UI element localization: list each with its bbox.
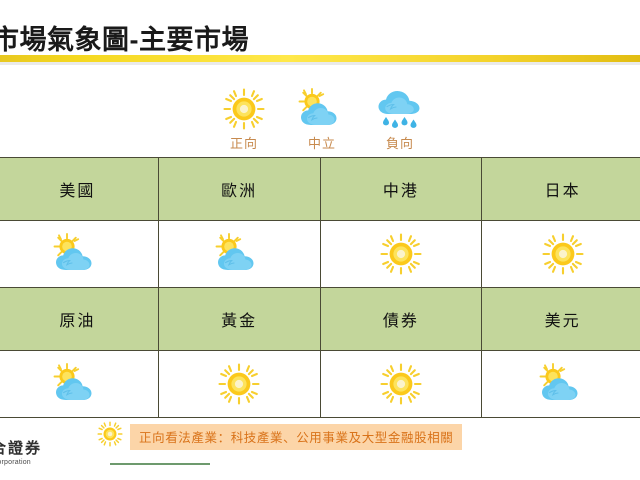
table-cell-asset: 黃金 bbox=[158, 288, 320, 351]
legend-label: 中立 bbox=[308, 133, 336, 152]
table-cell-asset: 美元 bbox=[482, 288, 640, 351]
table-cell-sentiment bbox=[320, 221, 482, 288]
legend-label: 負向 bbox=[386, 133, 414, 152]
table-cell-sentiment bbox=[482, 221, 640, 288]
sun-icon bbox=[222, 86, 266, 132]
table-cell-sentiment bbox=[158, 221, 320, 288]
title-accent-shadow bbox=[0, 62, 640, 65]
page-title: 市場氣象圖-主要市場 bbox=[0, 18, 249, 57]
sun-icon bbox=[321, 351, 482, 417]
logo-divider-line bbox=[110, 463, 210, 465]
title-accent-bar bbox=[0, 55, 640, 62]
legend-item-positive: 正向 bbox=[208, 86, 280, 152]
logo-name-cn: 綜合證券 bbox=[0, 437, 134, 458]
table-cell-region: 日本 bbox=[482, 158, 640, 221]
legend: 正向 bbox=[208, 86, 436, 154]
company-logo: 綜合證券 rities Corporation bbox=[0, 437, 134, 466]
sun-behind-cloud-icon bbox=[0, 351, 158, 417]
sun-icon bbox=[159, 351, 320, 417]
table-cell-sentiment bbox=[0, 221, 158, 288]
table-row bbox=[0, 351, 640, 418]
table-cell-sentiment bbox=[0, 351, 158, 418]
table-row: 原油 黃金 債券 美元 bbox=[0, 288, 640, 351]
sun-icon bbox=[482, 221, 640, 287]
sun-behind-cloud-icon bbox=[482, 351, 640, 417]
sun-icon bbox=[321, 221, 482, 287]
sun-behind-cloud-icon bbox=[296, 86, 348, 132]
slide-canvas: 市場氣象圖-主要市場 bbox=[0, 0, 640, 480]
table-cell-region: 中港 bbox=[320, 158, 482, 221]
table-cell-region: 歐洲 bbox=[158, 158, 320, 221]
legend-item-negative: 負向 bbox=[364, 86, 436, 152]
legend-label: 正向 bbox=[230, 133, 258, 152]
legend-item-neutral: 中立 bbox=[286, 86, 358, 152]
sun-behind-cloud-icon bbox=[0, 221, 158, 287]
table-cell-region: 美國 bbox=[0, 158, 158, 221]
footnote: 正向看法產業：科技產業、公用事業及大型金融股相關 bbox=[97, 421, 462, 452]
sun-behind-cloud-icon bbox=[159, 221, 320, 287]
table-cell-sentiment bbox=[320, 351, 482, 418]
table-row: 美國 歐洲 中港 日本 bbox=[0, 158, 640, 221]
market-weather-table: 美國 歐洲 中港 日本 bbox=[0, 157, 640, 418]
table-cell-asset: 原油 bbox=[0, 288, 158, 351]
rain-cloud-icon bbox=[375, 86, 425, 132]
table-row bbox=[0, 221, 640, 288]
footnote-text: 正向看法產業：科技產業、公用事業及大型金融股相關 bbox=[130, 424, 462, 450]
table-cell-sentiment bbox=[482, 351, 640, 418]
table-cell-sentiment bbox=[158, 351, 320, 418]
table-cell-asset: 債券 bbox=[320, 288, 482, 351]
